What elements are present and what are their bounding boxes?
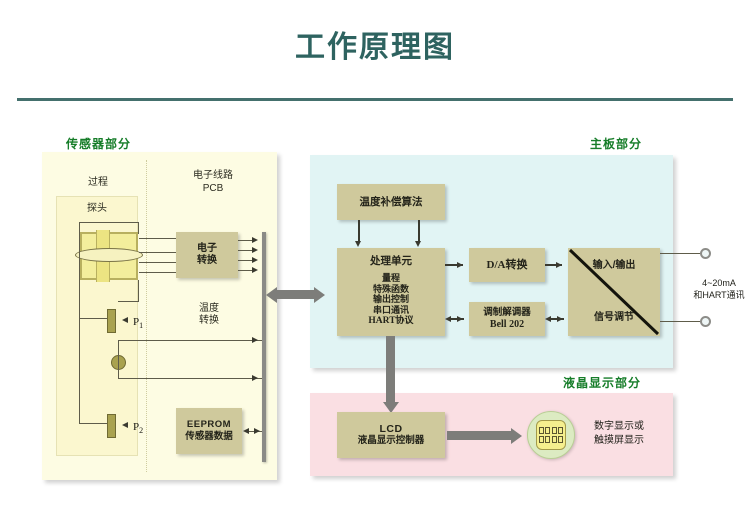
probe-wire-to-p1 [79, 318, 109, 319]
display-digit [545, 436, 550, 443]
modem-io-arrow-left-icon [545, 316, 551, 322]
display-digit [539, 427, 544, 434]
display-digit-row-1 [539, 427, 564, 434]
display-digit [558, 427, 563, 434]
p1-arrow-icon [122, 317, 128, 323]
terminal-label: 4~20mA 和HART通讯 [688, 277, 750, 301]
cpu-feature-1: 特殊函数 [373, 284, 409, 294]
eeprom-arrow-right-icon [254, 428, 260, 434]
pressure-port-p2 [107, 414, 116, 438]
pressure-port-p1 [107, 309, 116, 333]
section-label-lcd: 液晶显示部分 [563, 374, 641, 391]
probe-wire-top [79, 222, 139, 223]
display-caption-line1: 数字显示或 [594, 421, 644, 432]
label-p2: P2 [133, 421, 143, 435]
display-screen [536, 420, 566, 450]
elec-convert-line1: 电子 [197, 243, 217, 255]
probe-caption: 探头 [77, 202, 117, 215]
temp-line-lower [118, 378, 264, 379]
cpu-feature-2: 输出控制 [373, 294, 409, 304]
pcb-caption-line1: 电子线路 [193, 170, 233, 181]
block-input-output: 输入/输出 信号调节 [568, 248, 660, 336]
display-digit [552, 427, 557, 434]
lcd-controller-line1: LCD [379, 423, 402, 435]
p2-subscript: 2 [139, 426, 143, 435]
cpu-title: 处理单元 [370, 255, 412, 267]
sensor-bus-bar [262, 232, 266, 462]
probe-signal-wire-2 [139, 252, 176, 253]
temperature-convert-caption: 温度 转换 [186, 303, 232, 327]
eeprom-line1: EEPROM [187, 419, 231, 431]
pcb-caption: 电子线路 PCB [176, 169, 250, 195]
elec-out-arrow-3-icon [252, 257, 258, 263]
temp-line-upper-arrow-icon [252, 337, 258, 343]
eeprom-line2: 传感器数据 [185, 431, 233, 443]
probe-wire-left-vertical [79, 222, 80, 318]
terminal-1 [700, 248, 711, 259]
section-label-mainboard: 主板部分 [590, 135, 642, 152]
probe-wire-lower-run [118, 301, 139, 302]
probe-diaphragm [75, 248, 143, 262]
block-modem: 调制解调器 Bell 202 [469, 302, 545, 336]
p2-arrow-icon [122, 422, 128, 428]
temp-line-lower-arrow-icon [252, 375, 258, 381]
tempalg-arrow-head-1-icon [355, 241, 361, 247]
elec-convert-line2: 转换 [197, 255, 217, 267]
cpu-da-arrow-icon [457, 262, 463, 268]
valve-vertical-wire [118, 340, 119, 378]
display-digit [552, 436, 557, 443]
cpu-feature-list: 量程 特殊函数 输出控制 串口通讯 HART协议 [368, 273, 413, 327]
label-p1: P1 [133, 316, 143, 330]
terminal-wire-top [660, 253, 702, 254]
p1-subscript: 1 [139, 321, 143, 330]
probe-wire-lower-drop [138, 280, 139, 302]
io-top-label: 输入/输出 [568, 260, 660, 272]
terminal-line1: 4~20mA [702, 278, 736, 288]
display-caption: 数字显示或 触摸屏显示 [594, 420, 684, 448]
block-da-converter: D/A转换 [469, 248, 545, 282]
temp-line-upper [118, 340, 264, 341]
io-bottom-label: 信号调节 [568, 312, 660, 324]
block-lcd-controller: LCD 液晶显示控制器 [337, 412, 445, 458]
title-divider [17, 98, 733, 101]
cpu-hart-label: HART [368, 316, 395, 326]
tempalg-arrow-shaft-1 [358, 220, 360, 242]
pcb-caption-line2: PCB [203, 183, 224, 194]
elec-out-arrow-1-icon [252, 237, 258, 243]
block-electronic-conversion: 电子 转换 [176, 232, 238, 278]
eeprom-arrow-left-icon [243, 428, 249, 434]
cpu-modem-arrow-left-icon [445, 316, 451, 322]
probe-wire-to-p2 [79, 423, 109, 424]
block-temperature-compensation-algorithm: 温度补偿算法 [337, 184, 445, 220]
section-label-sensor: 传感器部分 [66, 135, 131, 152]
lcd-controller-line2: 液晶显示控制器 [358, 435, 425, 447]
cpu-hart-suffix: 协议 [396, 315, 414, 325]
elec-out-arrow-4-icon [252, 267, 258, 273]
da-io-arrow-icon [556, 262, 562, 268]
cpu-feature-0: 量程 [382, 273, 400, 283]
display-digit [539, 436, 544, 443]
modem-line2: Bell 202 [490, 319, 524, 331]
display-caption-line2: 触摸屏显示 [594, 435, 644, 446]
probe-wire-top-drop [138, 222, 139, 234]
modem-line1: 调制解调器 [483, 307, 531, 319]
page-title: 工作原理图 [0, 22, 750, 66]
block-eeprom: EEPROM 传感器数据 [176, 408, 242, 454]
process-pcb-divider [146, 160, 147, 472]
cpu-feature-3: 串口通讯 [373, 305, 409, 315]
display-digit [545, 427, 550, 434]
probe-signal-wire-1 [139, 238, 176, 239]
display-digit-row-2 [539, 436, 564, 443]
modem-io-arrow-right-icon [557, 316, 563, 322]
temp-convert-line2: 转换 [199, 315, 219, 326]
probe-signal-wire-3 [139, 262, 176, 263]
terminal-wire-bottom [660, 321, 702, 322]
terminal-2 [700, 316, 711, 327]
process-caption: 过程 [78, 176, 118, 189]
slide-canvas: 工作原理图 传感器部分 主板部分 液晶显示部分 过程 电子线路 PCB 探头 温… [0, 0, 750, 511]
block-processing-unit: 处理单元 量程 特殊函数 输出控制 串口通讯 HART协议 [337, 248, 445, 336]
cpu-modem-arrow-right-icon [457, 316, 463, 322]
probe-signal-wire-4 [139, 272, 176, 273]
tempalg-arrow-head-2-icon [415, 241, 421, 247]
tempalg-arrow-shaft-2 [418, 220, 420, 242]
temp-convert-line1: 温度 [199, 303, 219, 314]
elec-out-arrow-2-icon [252, 247, 258, 253]
terminal-line2: 和HART通讯 [693, 290, 744, 300]
display-digit [558, 436, 563, 443]
probe-wire-left-long [79, 318, 80, 424]
